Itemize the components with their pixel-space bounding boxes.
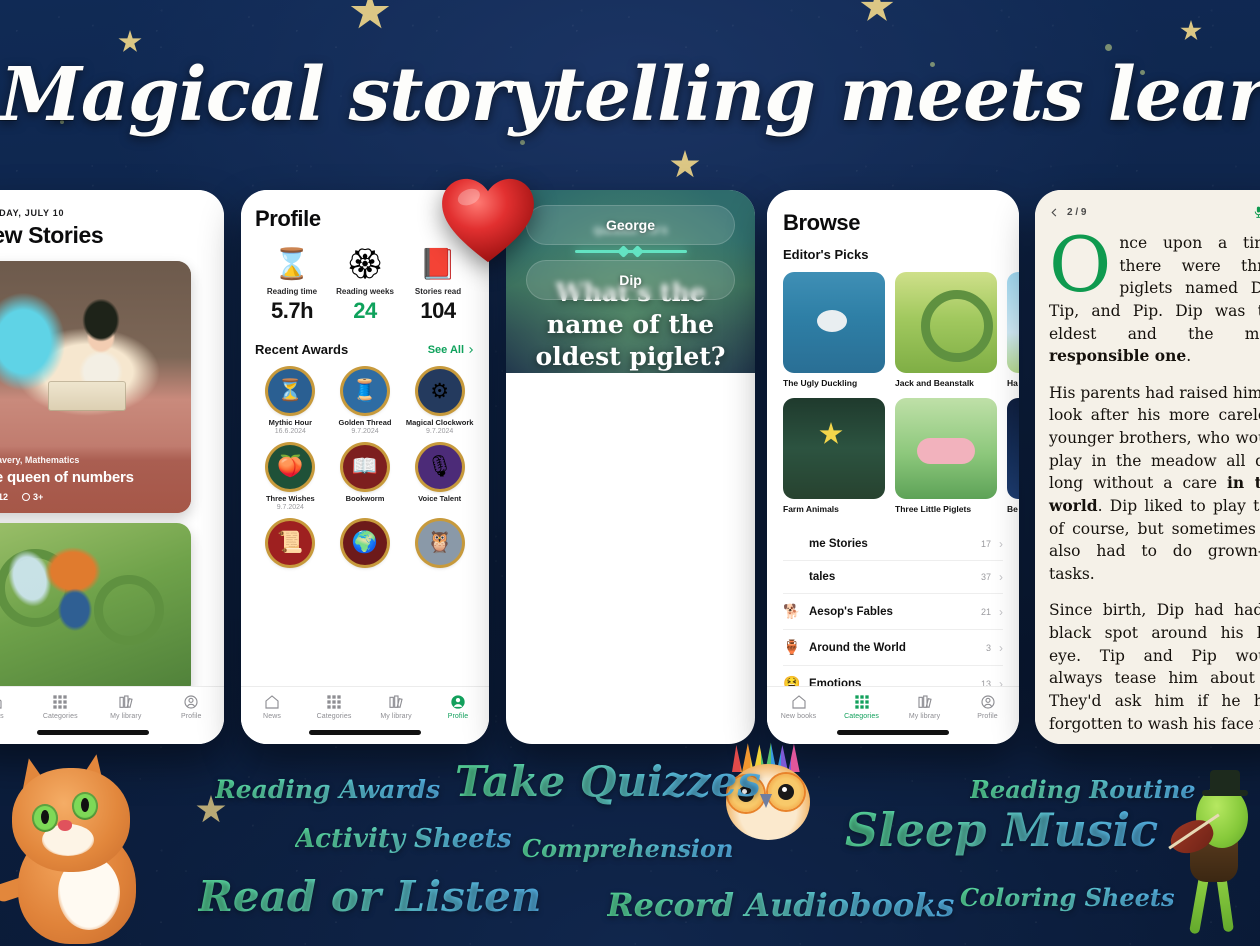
story-tags: Bravery, Mathematics [0, 455, 180, 465]
hourglass-icon: ⌛ [257, 250, 327, 280]
feature-word-reading-routine: Reading Routine [970, 775, 1196, 804]
tab-label: New books [767, 713, 830, 720]
award-name: Bookworm [330, 494, 401, 503]
pick-thumbnail [895, 398, 997, 499]
pick-card[interactable]: Ha [1007, 272, 1019, 388]
award-name: Voice Talent [404, 494, 475, 503]
tab-profile[interactable]: Profile [956, 694, 1019, 720]
tab-bar[interactable]: News Categories My library Profile [0, 686, 224, 744]
feature-word-take-quizzes: Take Quizzes [455, 757, 761, 806]
home-indicator [837, 730, 949, 735]
feature-word-activity-sheets: Activity Sheets [295, 824, 511, 854]
age-icon [22, 493, 30, 501]
chevron-left-icon [1049, 206, 1060, 219]
profile-screen-content: Profile ⌛ Reading time 5.7h 🏵 Reading we… [241, 190, 489, 744]
tab-bar[interactable]: News Categories My library Profile [241, 686, 489, 744]
home-indicator [309, 730, 421, 735]
story-title: Te queen of numbers [0, 469, 180, 486]
stat-label: Stories read [403, 287, 473, 296]
sparkle-dot [1105, 44, 1112, 51]
phone-news-screen: MONDAY, JULY 10 New Stories Bravery, Mat… [0, 190, 224, 744]
books-icon [388, 694, 404, 710]
medal-emoji: 🦉 [427, 531, 453, 555]
feature-word-comprehension: Comprehension [522, 834, 733, 863]
editors-picks-heading: Editor's Picks [783, 247, 1019, 262]
tab-profile[interactable]: Profile [159, 694, 225, 720]
fairy-body [54, 585, 96, 647]
page-title: Magical storytelling meets learning [0, 52, 1260, 138]
pick-title: Be [1007, 504, 1019, 514]
chevron-right-icon: › [999, 605, 1003, 619]
chevron-right-icon: › [999, 641, 1003, 655]
medal-emoji: 🍑 [277, 455, 303, 479]
books-icon [917, 694, 933, 710]
tab-news[interactable]: News [241, 694, 303, 720]
pick-title: Three Little Piglets [895, 504, 997, 514]
pick-title: Farm Animals [783, 504, 885, 514]
category-icon: 🏺 [783, 639, 801, 656]
feature-word-read-or-listen: Read or Listen [198, 872, 541, 921]
browse-title: Browse [783, 210, 1019, 236]
award-item[interactable]: 🍑 Three Wishes 9.7.2024 [255, 445, 326, 511]
grid-icon [854, 694, 870, 710]
pick-card[interactable]: Three Little Piglets [895, 398, 997, 514]
award-item[interactable]: 🎙 Voice Talent [404, 445, 475, 511]
reader-paragraph: His parents had raised him to look after… [1049, 382, 1260, 586]
paragraph-bold: responsible one [1049, 346, 1186, 365]
award-date: 9.7.2024 [404, 428, 475, 435]
tab-label: Categories [303, 713, 365, 720]
pick-card[interactable]: Be [1007, 398, 1019, 514]
award-item[interactable]: ⏳ Mythic Hour 16.6.2024 [255, 369, 326, 435]
home-indicator [37, 730, 149, 735]
story-age-value: 3+ [33, 492, 43, 502]
heart-icon [440, 176, 536, 264]
category-row[interactable]: 🏺 Around the World 3 › [783, 630, 1003, 666]
medal-icon: 🎙 [418, 445, 462, 489]
pick-card[interactable]: The Ugly Duckling [783, 272, 885, 388]
chevron-right-icon: › [999, 570, 1003, 584]
medal-icon: 📖 [343, 445, 387, 489]
reader-screen-content: 2 / 9 A Once upon a time, there were thr… [1035, 190, 1260, 744]
star-icon [118, 30, 142, 54]
tab-new-books[interactable]: New books [767, 694, 830, 720]
quiz-screen-content: Question 1 of 5 What's the name of the o… [506, 190, 755, 373]
phone-profile-screen: Profile ⌛ Reading time 5.7h 🏵 Reading we… [241, 190, 489, 744]
stat-value: 5.7h [257, 298, 327, 324]
award-item[interactable]: 📖 Bookworm [330, 445, 401, 511]
tab-categories[interactable]: Categories [830, 694, 893, 720]
pick-thumbnail [783, 272, 885, 373]
category-name: tales [809, 571, 973, 583]
category-list: me Stories 17 › tales 37 › 🐕 Aesop's Fab… [783, 528, 1003, 702]
category-count: 21 [981, 607, 991, 617]
person-icon [183, 694, 199, 710]
news-title: New Stories [0, 222, 210, 249]
phone-browse-screen: Browse Editor's Picks The Ugly Duckling … [767, 190, 1019, 744]
award-item[interactable]: ⚙ Magical Clockwork 9.7.2024 [404, 369, 475, 435]
reader-actions[interactable]: A [1252, 204, 1260, 220]
answer-options: Pip George Dip [526, 190, 735, 315]
feature-word-coloring-sheets: Coloring Sheets [960, 883, 1175, 912]
medal-emoji: 🌍 [352, 531, 378, 555]
kitten-mascot [0, 752, 174, 946]
stat-value: 104 [403, 298, 473, 324]
tab-label: News [0, 713, 28, 720]
category-name: me Stories [809, 538, 973, 550]
medal-icon: 📜 [268, 521, 312, 565]
recent-awards-header: Recent Awards See All [255, 342, 475, 357]
category-row[interactable]: 🐕 Aesop's Fables 21 › [783, 594, 1003, 630]
award-name: Golden Thread [330, 418, 401, 427]
feature-word-reading-awards: Reading Awards [215, 775, 440, 804]
reader-paragraph: Once upon a time, there were three pigle… [1049, 232, 1260, 368]
medal-emoji: ⚙ [430, 379, 449, 404]
tab-label: Categories [830, 713, 893, 720]
category-icon: 🐕 [783, 603, 801, 620]
pick-card[interactable]: Farm Animals [783, 398, 885, 514]
medal-icon: 🦉 [418, 521, 462, 565]
reader-text: Once upon a time, there were three pigle… [1049, 232, 1260, 735]
medal-icon: 🧵 [343, 369, 387, 413]
tab-bar[interactable]: New books Categories My library Profile [767, 686, 1019, 744]
award-name: Mythic Hour [255, 418, 326, 427]
tab-label: My library [365, 713, 427, 720]
sparkle-dot [520, 140, 525, 145]
home-icon [0, 694, 3, 710]
tab-my-library[interactable]: My library [365, 694, 427, 720]
category-row[interactable]: me Stories 17 › [783, 528, 1003, 561]
cricket-hat [1210, 770, 1240, 792]
tab-news[interactable]: News [0, 694, 28, 720]
medal-emoji: 📖 [352, 455, 378, 479]
tab-categories[interactable]: Categories [303, 694, 365, 720]
award-item[interactable]: 🦉 [404, 521, 475, 565]
kitten-eye [72, 792, 98, 820]
stat-label: Reading weeks [330, 287, 400, 296]
answer-option-3[interactable]: Dip [526, 260, 735, 300]
pick-thumbnail [895, 272, 997, 373]
stat-reading-time: ⌛ Reading time 5.7h [257, 250, 327, 324]
award-date: 16.6.2024 [255, 428, 326, 435]
promo-banner: Magical storytelling meets learning MOND… [0, 0, 1260, 946]
story-card[interactable]: Bravery, Mathematics Te queen of numbers… [0, 261, 191, 513]
story-duration-value: 12 [0, 492, 8, 502]
books-icon [118, 694, 134, 710]
tab-categories[interactable]: Categories [28, 694, 94, 720]
tab-label: My library [93, 713, 159, 720]
category-count: 3 [986, 643, 991, 653]
cricket-leg [1216, 874, 1234, 933]
award-name: Three Wishes [255, 494, 326, 503]
wreath-medal-icon: 🏵 [330, 250, 400, 280]
reader-paragraph: Since birth, Dip had had a black spot ar… [1049, 599, 1260, 735]
phone-reader-screen: 2 / 9 A Once upon a time, there were thr… [1035, 190, 1260, 744]
story-meta: 12 3+ [0, 492, 180, 502]
tab-label: News [241, 713, 303, 720]
category-name: Aesop's Fables [809, 606, 973, 618]
cricket-hat-brim [1202, 790, 1248, 796]
pick-thumbnail [1007, 398, 1019, 499]
pick-title: Ha [1007, 378, 1019, 388]
stat-label: Reading time [257, 287, 327, 296]
pick-thumbnail [783, 398, 885, 499]
home-icon [264, 694, 280, 710]
kitten-head [12, 768, 130, 872]
pick-title: Jack and Beanstalk [895, 378, 997, 388]
drop-cap: O [1049, 232, 1119, 294]
grid-icon [326, 694, 342, 710]
award-date: 9.7.2024 [255, 504, 326, 511]
award-item[interactable]: 📜 [255, 521, 326, 565]
pick-card[interactable]: Jack and Beanstalk [895, 272, 997, 388]
stat-reading-weeks: 🏵 Reading weeks 24 [330, 250, 400, 324]
tab-profile[interactable]: Profile [427, 694, 489, 720]
cricket-leg [1189, 876, 1209, 935]
phone-quiz-screen: Question 1 of 5 What's the name of the o… [506, 190, 755, 744]
see-all-label: See All [428, 344, 464, 356]
kitten-eye [32, 804, 58, 832]
star-icon [1180, 20, 1202, 42]
awards-grid: ⏳ Mythic Hour 16.6.2024 🧵 Golden Thread … [255, 369, 475, 565]
tab-label: My library [893, 713, 956, 720]
medal-icon: ⚙ [418, 369, 462, 413]
feature-word-sleep-music: Sleep Music [845, 803, 1158, 857]
chevron-right-icon [467, 345, 475, 355]
medal-emoji: 🧵 [352, 379, 378, 403]
award-item[interactable]: 🌍 [330, 521, 401, 565]
medal-emoji: 📜 [277, 531, 303, 555]
tab-label: Categories [28, 713, 94, 720]
medal-emoji: 🎙 [426, 455, 453, 479]
story-duration: 12 [0, 492, 8, 502]
browse-screen-content: Browse Editor's Picks The Ugly Duckling … [767, 190, 1019, 744]
award-item[interactable]: 🧵 Golden Thread 9.7.2024 [330, 369, 401, 435]
star-icon [860, 0, 894, 24]
news-screen-content: MONDAY, JULY 10 New Stories Bravery, Mat… [0, 190, 224, 744]
category-count: 17 [981, 539, 991, 549]
kitten-nose [58, 820, 72, 831]
medal-icon: 🌍 [343, 521, 387, 565]
person-icon [980, 694, 996, 710]
pick-thumbnail [1007, 272, 1019, 373]
editors-picks-row-1: The Ugly Duckling Jack and Beanstalk Ha [783, 272, 1019, 388]
grid-icon [52, 694, 68, 710]
feature-word-record-audiobooks: Record Audiobooks [607, 886, 954, 924]
category-row[interactable]: tales 37 › [783, 561, 1003, 594]
category-count: 37 [981, 572, 991, 582]
person-icon [450, 694, 466, 710]
microphone-icon [1252, 204, 1260, 220]
story-age: 3+ [22, 492, 43, 502]
home-icon [791, 694, 807, 710]
medal-emoji: ⏳ [277, 379, 303, 403]
star-icon [670, 150, 700, 180]
recent-awards-title: Recent Awards [255, 342, 348, 357]
story-card-overlay: Bravery, Mathematics Te queen of numbers… [0, 446, 191, 513]
editors-picks-row-2: Farm Animals Three Little Piglets Be [783, 398, 1019, 514]
star-icon [350, 0, 390, 32]
medal-icon: 🍑 [268, 445, 312, 489]
medal-icon: ⏳ [268, 369, 312, 413]
reader-toolbar: 2 / 9 A [1049, 204, 1260, 220]
award-date: 9.7.2024 [330, 428, 401, 435]
tab-my-library[interactable]: My library [93, 694, 159, 720]
pick-title: The Ugly Duckling [783, 378, 885, 388]
page-indicator: 2 / 9 [1067, 207, 1086, 218]
story-card-secondary[interactable] [0, 523, 191, 698]
news-date-kicker: MONDAY, JULY 10 [0, 208, 210, 218]
chevron-right-icon: › [999, 537, 1003, 551]
paragraph-text: . [1186, 347, 1191, 365]
tab-label: Profile [159, 713, 225, 720]
answer-option-2[interactable]: George [526, 205, 735, 245]
stat-value: 24 [330, 298, 400, 324]
see-all-button[interactable]: See All [428, 344, 475, 356]
tab-label: Profile [427, 713, 489, 720]
open-book-icon [48, 381, 126, 411]
category-name: Around the World [809, 642, 978, 654]
reader-nav[interactable]: 2 / 9 [1049, 206, 1086, 219]
tab-my-library[interactable]: My library [893, 694, 956, 720]
tab-label: Profile [956, 713, 1019, 720]
owl-eye [768, 774, 804, 810]
award-name: Magical Clockwork [404, 418, 475, 427]
